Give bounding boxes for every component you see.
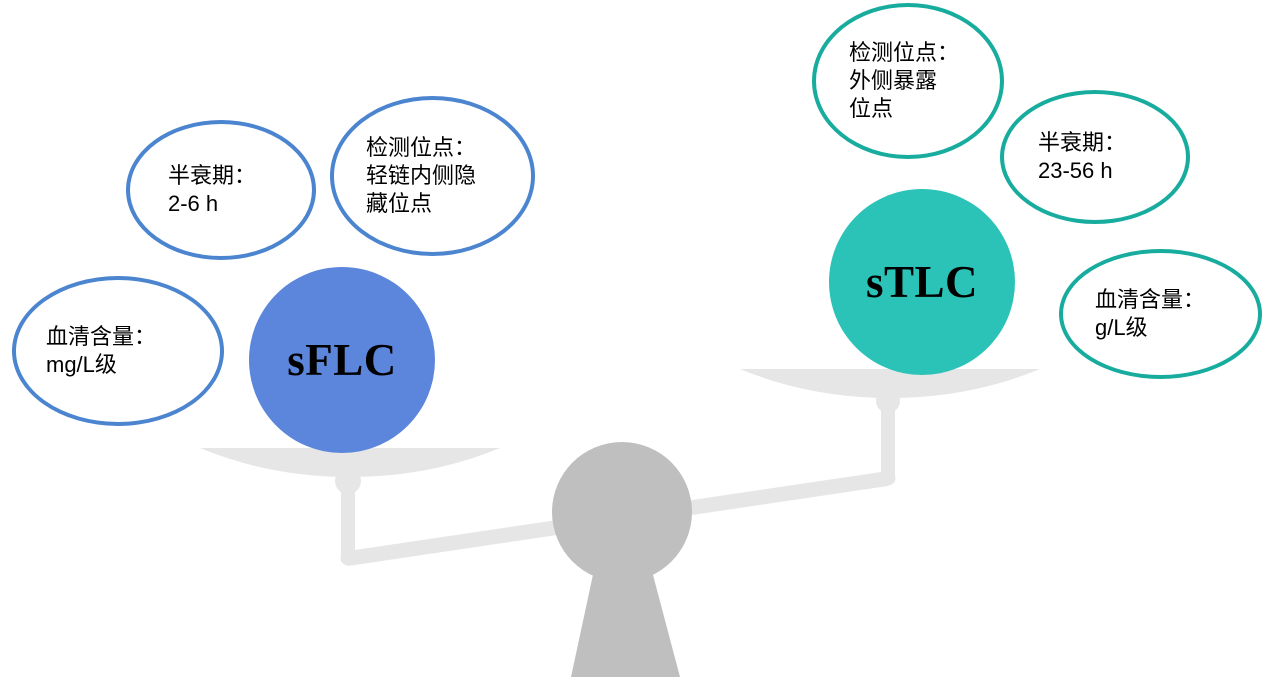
bubble-sflc-detection-site-text: 检测位点： 轻链内侧隐 藏位点 bbox=[334, 134, 531, 218]
bubble-stlc-serum-level-text: 血清含量： g/L级 bbox=[1063, 286, 1258, 342]
scale-fulcrum bbox=[552, 442, 692, 677]
orb-sflc-label: sFLC bbox=[287, 334, 397, 386]
orb-stlc-label: sTLC bbox=[866, 256, 978, 308]
bubble-stlc-detection-site: 检测位点： 外侧暴露 位点 bbox=[812, 3, 1004, 159]
bubble-stlc-serum-level: 血清含量： g/L级 bbox=[1059, 249, 1262, 379]
bubble-sflc-half-life-text: 半衰期： 2-6 h bbox=[130, 162, 312, 218]
bubble-sflc-detection-site: 检测位点： 轻链内侧隐 藏位点 bbox=[330, 96, 535, 256]
bubble-stlc-half-life: 半衰期： 23-56 h bbox=[1000, 90, 1190, 224]
diagram-canvas: sFLC sTLC 血清含量： mg/L级 半衰期： 2-6 h 检测位点： 轻… bbox=[0, 0, 1275, 693]
orb-sflc: sFLC bbox=[249, 267, 435, 453]
right-scale-pan bbox=[740, 369, 1040, 398]
bubble-stlc-detection-site-text: 检测位点： 外侧暴露 位点 bbox=[816, 39, 1000, 123]
right-pan-hanger bbox=[876, 389, 900, 482]
left-pan-hanger bbox=[335, 468, 361, 562]
bubble-sflc-serum-level-text: 血清含量： mg/L级 bbox=[16, 323, 220, 379]
bubble-sflc-half-life: 半衰期： 2-6 h bbox=[126, 120, 316, 260]
orb-stlc: sTLC bbox=[829, 189, 1015, 375]
bubble-sflc-serum-level: 血清含量： mg/L级 bbox=[12, 276, 224, 426]
bubble-stlc-half-life-text: 半衰期： 23-56 h bbox=[1004, 129, 1186, 185]
